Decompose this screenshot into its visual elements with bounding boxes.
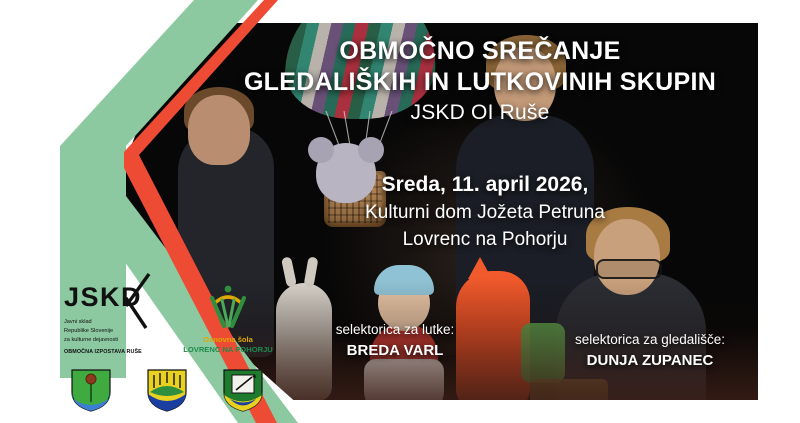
crest-selnica-ob-dravi	[224, 370, 262, 411]
crest-rues	[72, 370, 110, 411]
jskd-slash-icon	[120, 272, 154, 330]
jskd-logo: JSKD Javni sklad Republike Slovenije za …	[64, 284, 182, 357]
credit-theatre-selector: selektorica za gledališče: DUNJA ZUPANEC	[545, 330, 755, 373]
credit-role-label: selektorica za gledališče:	[545, 330, 755, 350]
school-logo: Osnovna šola LOVRENC NA POHORJU	[180, 284, 276, 355]
event-details-block: Sreda, 11. april 2026, Kulturni dom Jože…	[250, 170, 720, 254]
logo-cluster: JSKD Javni sklad Republike Slovenije za …	[58, 280, 278, 412]
eyeglasses	[596, 259, 662, 279]
crest-lovrenc-na-pohorju	[148, 370, 186, 411]
event-date: Sreda, 11. april 2026,	[250, 170, 720, 200]
title-block: OBMOČNO SREČANJE GLEDALIŠKIH IN LUTKOVIN…	[180, 36, 780, 129]
event-venue: Kulturni dom Jožeta Petruna	[250, 200, 720, 227]
municipal-crests	[66, 368, 276, 412]
title-line-1: OBMOČNO SREČANJE	[180, 36, 780, 67]
credit-role-label: selektorica za lutke:	[300, 320, 490, 340]
credit-person-name: BREDA VARL	[300, 340, 490, 363]
jskd-subtitle-line-3: za kulturne dejavnosti	[64, 336, 182, 345]
title-line-3: JSKD OI Ruše	[180, 97, 780, 129]
school-emblem-icon	[198, 284, 258, 330]
credit-puppetry-selector: selektorica za lutke: BREDA VARL	[300, 320, 490, 363]
jskd-branch-line: OBMOČNA IZPOSTAVA RUŠE	[64, 349, 142, 355]
credit-person-name: DUNJA ZUPANEC	[545, 350, 755, 373]
title-line-2: GLEDALIŠKIH IN LUTKOVINIH SKUPIN	[180, 67, 780, 98]
school-name-line-1: Osnovna šola	[180, 335, 276, 345]
event-poster: OBMOČNO SREČANJE GLEDALIŠKIH IN LUTKOVIN…	[0, 0, 800, 423]
event-place: Lovrenc na Pohorju	[250, 227, 720, 254]
school-name-line-2: LOVRENC NA POHORJU	[180, 345, 276, 355]
